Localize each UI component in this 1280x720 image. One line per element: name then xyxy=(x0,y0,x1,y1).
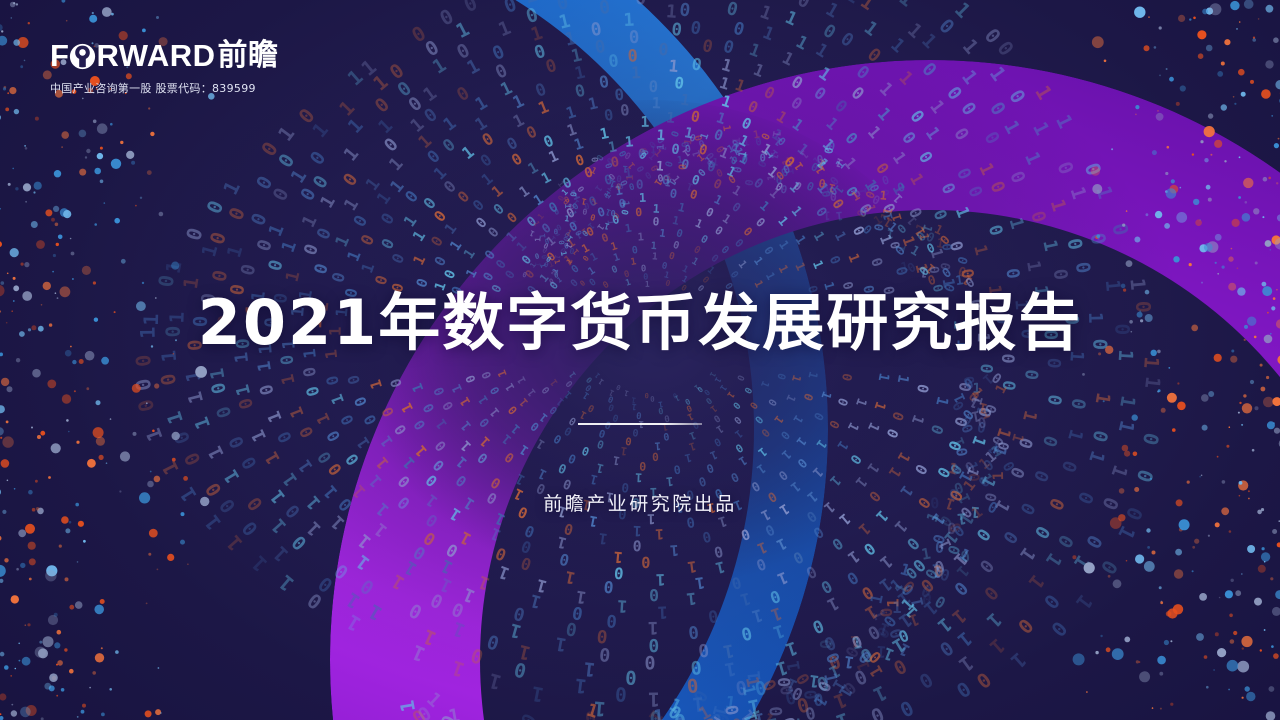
svg-text:1: 1 xyxy=(261,448,285,468)
svg-text:1: 1 xyxy=(651,94,661,112)
svg-text:1: 1 xyxy=(486,668,504,694)
svg-text:1: 1 xyxy=(1022,259,1045,273)
svg-text:1: 1 xyxy=(685,588,697,608)
svg-text:1: 1 xyxy=(953,627,976,651)
svg-text:1: 1 xyxy=(535,97,551,118)
svg-text:1: 1 xyxy=(573,674,587,698)
svg-text:0: 0 xyxy=(1053,531,1078,552)
svg-text:1: 1 xyxy=(191,414,216,432)
svg-text:0: 0 xyxy=(1020,368,1041,381)
svg-text:0: 0 xyxy=(707,606,720,627)
svg-text:1: 1 xyxy=(843,652,856,672)
svg-text:1: 1 xyxy=(472,93,491,116)
svg-text:1: 1 xyxy=(824,593,842,615)
svg-text:0: 0 xyxy=(1088,428,1112,445)
svg-text:1: 1 xyxy=(274,570,299,596)
svg-text:1: 1 xyxy=(894,67,917,89)
svg-text:1: 1 xyxy=(723,657,737,680)
wordmark-chinese: 前瞻 xyxy=(217,41,278,71)
svg-text:0: 0 xyxy=(701,0,715,1)
svg-text:0: 0 xyxy=(208,380,231,396)
svg-text:0: 0 xyxy=(501,0,520,18)
svg-text:0: 0 xyxy=(635,0,647,9)
svg-text:1: 1 xyxy=(529,681,545,707)
svg-text:0: 0 xyxy=(648,77,658,96)
svg-text:1: 1 xyxy=(757,2,774,25)
svg-text:1: 1 xyxy=(448,656,467,683)
svg-text:0: 0 xyxy=(930,207,951,223)
svg-text:1: 1 xyxy=(717,73,732,94)
svg-text:0: 0 xyxy=(896,695,918,720)
svg-text:0: 0 xyxy=(512,657,529,682)
svg-text:0: 0 xyxy=(357,231,378,248)
svg-text:0: 0 xyxy=(484,630,502,654)
svg-text:1: 1 xyxy=(1041,549,1066,571)
svg-text:0: 0 xyxy=(300,365,321,378)
svg-text:0: 0 xyxy=(310,261,332,276)
svg-text:1: 1 xyxy=(732,75,747,96)
svg-text:0: 0 xyxy=(253,237,276,254)
svg-text:1: 1 xyxy=(341,195,364,214)
svg-text:0: 0 xyxy=(274,427,297,445)
svg-text:0: 0 xyxy=(1107,221,1133,238)
brand-wordmark: F RWARD 前瞻 xyxy=(50,40,350,71)
svg-text:0: 0 xyxy=(788,93,806,114)
svg-text:1: 1 xyxy=(669,541,679,559)
svg-text:1: 1 xyxy=(985,62,1011,85)
svg-text:1: 1 xyxy=(1063,427,1086,443)
svg-text:0: 0 xyxy=(979,128,1003,148)
svg-text:0: 0 xyxy=(1013,614,1038,638)
svg-text:1: 1 xyxy=(782,7,801,31)
svg-text:0: 0 xyxy=(689,18,702,39)
wordmark-letter-f: F xyxy=(50,40,69,71)
svg-text:1: 1 xyxy=(255,359,276,372)
svg-text:1: 1 xyxy=(1020,149,1045,168)
svg-text:0: 0 xyxy=(156,372,181,388)
svg-text:1: 1 xyxy=(639,191,647,205)
svg-text:1: 1 xyxy=(958,35,983,59)
svg-text:0: 0 xyxy=(247,210,272,229)
svg-text:0: 0 xyxy=(767,586,783,607)
report-cover-slide: 1000110101110011101001000100110110011100… xyxy=(0,0,1280,720)
svg-text:1: 1 xyxy=(886,34,908,57)
svg-text:1: 1 xyxy=(760,23,777,45)
svg-text:1: 1 xyxy=(623,10,635,32)
svg-text:0: 0 xyxy=(817,639,836,649)
svg-text:0: 0 xyxy=(202,197,229,217)
svg-text:0: 0 xyxy=(985,98,1010,119)
svg-text:1: 1 xyxy=(876,551,896,572)
svg-text:1: 1 xyxy=(823,209,830,223)
svg-text:1: 1 xyxy=(637,231,644,243)
svg-text:0: 0 xyxy=(632,536,642,553)
svg-text:1: 1 xyxy=(815,63,835,85)
svg-text:0: 0 xyxy=(841,128,861,148)
svg-text:0: 0 xyxy=(573,81,587,102)
svg-text:1: 1 xyxy=(625,174,636,180)
svg-text:1: 1 xyxy=(731,137,743,143)
svg-text:0: 0 xyxy=(180,448,206,469)
svg-text:1: 1 xyxy=(340,143,363,165)
svg-text:1: 1 xyxy=(665,474,674,489)
svg-text:1: 1 xyxy=(285,404,307,421)
svg-text:0: 0 xyxy=(1043,393,1066,407)
svg-text:1: 1 xyxy=(335,96,360,120)
svg-text:0: 0 xyxy=(1071,261,1094,275)
svg-text:1: 1 xyxy=(495,17,514,42)
svg-text:0: 0 xyxy=(1026,209,1049,225)
svg-text:1: 1 xyxy=(665,109,676,127)
svg-text:0: 0 xyxy=(952,676,975,703)
svg-text:1: 1 xyxy=(985,634,1009,659)
svg-text:0: 0 xyxy=(998,527,1021,548)
svg-text:0: 0 xyxy=(935,636,957,661)
svg-text:1: 1 xyxy=(1084,448,1108,466)
svg-text:1: 1 xyxy=(856,0,878,15)
svg-text:0: 0 xyxy=(1001,267,1022,281)
svg-text:0: 0 xyxy=(615,682,628,706)
svg-text:0: 0 xyxy=(598,0,612,19)
svg-text:1: 1 xyxy=(420,83,441,107)
svg-text:0: 0 xyxy=(837,28,858,51)
svg-text:1: 1 xyxy=(386,154,408,175)
svg-text:1: 1 xyxy=(141,425,168,445)
title-divider xyxy=(578,423,702,425)
svg-text:1: 1 xyxy=(278,238,301,255)
svg-text:0: 0 xyxy=(257,382,279,397)
svg-text:0: 0 xyxy=(1046,616,1072,641)
svg-text:0: 0 xyxy=(721,36,736,58)
svg-text:0: 0 xyxy=(963,183,986,200)
svg-text:1: 1 xyxy=(1115,394,1140,409)
svg-text:0: 0 xyxy=(701,35,715,57)
svg-text:0: 0 xyxy=(745,97,761,117)
svg-text:0: 0 xyxy=(406,598,426,623)
svg-text:1: 1 xyxy=(875,79,897,101)
svg-text:1: 1 xyxy=(783,637,800,660)
svg-text:0: 0 xyxy=(641,553,650,571)
svg-text:1: 1 xyxy=(508,619,524,642)
svg-text:0: 0 xyxy=(952,165,975,183)
svg-text:0: 0 xyxy=(302,384,323,399)
svg-text:1: 1 xyxy=(1051,111,1078,132)
svg-text:0: 0 xyxy=(1052,158,1078,177)
svg-text:1: 1 xyxy=(835,209,844,224)
svg-text:0: 0 xyxy=(739,622,754,644)
svg-text:1: 1 xyxy=(879,188,887,203)
svg-text:0: 0 xyxy=(532,79,549,101)
svg-text:0: 0 xyxy=(607,50,619,71)
svg-text:0: 0 xyxy=(225,432,249,451)
svg-text:0: 0 xyxy=(518,711,542,720)
svg-text:0: 0 xyxy=(238,453,262,473)
svg-text:1: 1 xyxy=(891,517,911,537)
svg-text:0: 0 xyxy=(986,178,1010,196)
svg-text:0: 0 xyxy=(671,20,683,41)
svg-text:0: 0 xyxy=(652,450,660,463)
svg-text:0: 0 xyxy=(629,28,640,48)
svg-text:1: 1 xyxy=(651,251,658,262)
svg-text:1: 1 xyxy=(631,63,642,82)
svg-text:0: 0 xyxy=(1030,522,1054,542)
svg-text:1: 1 xyxy=(162,408,187,426)
svg-text:0: 0 xyxy=(342,450,363,469)
svg-text:0: 0 xyxy=(1029,467,1053,485)
svg-text:1: 1 xyxy=(968,433,989,449)
svg-text:0: 0 xyxy=(371,93,394,117)
svg-text:1: 1 xyxy=(640,114,649,131)
svg-text:0: 0 xyxy=(635,177,643,192)
svg-text:0: 0 xyxy=(323,427,344,445)
svg-text:1: 1 xyxy=(440,113,460,135)
svg-text:1: 1 xyxy=(247,551,272,577)
svg-text:0: 0 xyxy=(1038,433,1061,449)
wordmark-letters-rward: RWARD xyxy=(96,40,215,71)
brand-tagline: 中国产业咨询第一股 股票代码：839599 xyxy=(50,80,350,96)
svg-text:0: 0 xyxy=(952,446,970,458)
svg-text:0: 0 xyxy=(675,164,686,171)
svg-text:0: 0 xyxy=(652,215,660,228)
svg-text:0: 0 xyxy=(984,223,1006,239)
svg-text:0: 0 xyxy=(644,391,648,399)
svg-text:0: 0 xyxy=(322,374,343,388)
svg-text:1: 1 xyxy=(364,599,386,625)
svg-text:0: 0 xyxy=(979,581,1002,603)
svg-text:0: 0 xyxy=(830,190,837,204)
svg-text:0: 0 xyxy=(1049,268,1071,282)
svg-text:1: 1 xyxy=(895,0,919,11)
svg-text:0: 0 xyxy=(961,374,978,385)
svg-text:0: 0 xyxy=(385,59,408,84)
svg-text:0: 0 xyxy=(492,60,511,84)
svg-text:0: 0 xyxy=(237,262,260,278)
forward-o-monogram-icon xyxy=(69,41,96,71)
svg-text:0: 0 xyxy=(975,555,998,577)
svg-text:0: 0 xyxy=(453,83,473,107)
svg-text:0: 0 xyxy=(947,519,957,537)
cover-byline: 前瞻产业研究院出品 xyxy=(0,489,1280,516)
svg-text:1: 1 xyxy=(248,426,272,445)
svg-text:0: 0 xyxy=(949,577,971,600)
svg-text:0: 0 xyxy=(949,124,973,144)
svg-text:0: 0 xyxy=(265,258,288,274)
svg-text:1: 1 xyxy=(313,410,334,427)
svg-text:0: 0 xyxy=(803,562,820,583)
svg-text:0: 0 xyxy=(810,83,829,104)
svg-text:0: 0 xyxy=(460,0,481,17)
svg-text:0: 0 xyxy=(1132,466,1159,485)
svg-text:0: 0 xyxy=(687,621,700,642)
svg-text:0: 0 xyxy=(349,212,371,231)
svg-text:0: 0 xyxy=(724,0,740,21)
svg-text:1: 1 xyxy=(925,96,948,117)
svg-text:0: 0 xyxy=(301,242,323,259)
svg-text:0: 0 xyxy=(614,85,626,105)
svg-text:0: 0 xyxy=(1066,396,1089,411)
svg-text:1: 1 xyxy=(864,122,885,142)
svg-text:0: 0 xyxy=(181,225,208,244)
svg-text:1: 1 xyxy=(747,39,764,61)
svg-text:0: 0 xyxy=(898,128,920,148)
svg-text:1: 1 xyxy=(408,640,429,667)
svg-text:1: 1 xyxy=(952,204,974,221)
svg-text:1: 1 xyxy=(668,56,680,76)
svg-text:0: 0 xyxy=(1138,430,1164,447)
svg-text:0: 0 xyxy=(436,4,458,31)
svg-text:1: 1 xyxy=(1005,215,1028,231)
svg-text:0: 0 xyxy=(603,577,615,597)
svg-text:1: 1 xyxy=(218,177,245,198)
cover-title: 2021年数字货币发展研究报告 xyxy=(0,287,1280,358)
svg-text:1: 1 xyxy=(450,617,469,642)
svg-text:0: 0 xyxy=(295,423,317,441)
svg-text:0: 0 xyxy=(208,268,232,283)
svg-text:1: 1 xyxy=(951,391,969,405)
svg-text:1: 1 xyxy=(1065,184,1090,202)
svg-text:1: 1 xyxy=(327,392,348,407)
svg-text:1: 1 xyxy=(273,122,299,146)
svg-text:1: 1 xyxy=(528,589,543,611)
svg-text:1: 1 xyxy=(750,605,765,627)
svg-text:1: 1 xyxy=(298,212,322,231)
svg-text:0: 0 xyxy=(731,19,747,41)
svg-text:0: 0 xyxy=(761,82,778,103)
svg-text:0: 0 xyxy=(589,19,603,41)
svg-text:1: 1 xyxy=(232,382,255,398)
svg-text:0: 0 xyxy=(598,643,611,665)
svg-text:0: 0 xyxy=(788,72,806,93)
svg-text:0: 0 xyxy=(649,585,659,604)
svg-text:1: 1 xyxy=(860,17,881,40)
svg-text:0: 0 xyxy=(860,539,879,560)
svg-text:1: 1 xyxy=(157,457,184,479)
svg-text:1: 1 xyxy=(633,522,642,538)
svg-text:1: 1 xyxy=(1008,431,1026,443)
svg-text:0: 0 xyxy=(915,667,937,693)
svg-text:1: 1 xyxy=(343,248,364,264)
svg-text:1: 1 xyxy=(920,545,932,564)
svg-text:1: 1 xyxy=(353,550,374,573)
svg-text:1: 1 xyxy=(207,366,230,380)
svg-text:0: 0 xyxy=(438,134,459,156)
svg-text:0: 0 xyxy=(1005,168,1029,186)
brand-logo-block: F RWARD 前瞻 中国产业咨询第一股 股票代码：839599 xyxy=(50,40,350,96)
svg-text:1: 1 xyxy=(738,589,752,610)
svg-text:0: 0 xyxy=(922,0,947,3)
svg-text:0: 0 xyxy=(843,567,862,588)
svg-text:1: 1 xyxy=(1018,408,1040,423)
svg-text:0: 0 xyxy=(339,169,362,190)
svg-text:0: 0 xyxy=(1039,590,1064,614)
svg-text:1: 1 xyxy=(648,617,659,637)
svg-text:1: 1 xyxy=(822,113,842,134)
svg-text:1: 1 xyxy=(1071,590,1097,614)
svg-text:1: 1 xyxy=(844,547,863,568)
svg-text:0: 0 xyxy=(1085,231,1110,247)
svg-text:0: 0 xyxy=(956,99,980,120)
svg-text:0: 0 xyxy=(905,107,927,128)
svg-text:1: 1 xyxy=(751,60,768,81)
svg-text:0: 0 xyxy=(380,134,403,156)
svg-text:0: 0 xyxy=(690,54,703,74)
svg-text:0: 0 xyxy=(939,243,954,252)
svg-text:0: 0 xyxy=(641,264,647,274)
svg-text:0: 0 xyxy=(468,643,486,669)
svg-text:0: 0 xyxy=(306,147,331,169)
svg-text:1: 1 xyxy=(204,442,229,462)
svg-text:1: 1 xyxy=(974,160,998,179)
svg-text:1: 1 xyxy=(396,698,420,713)
svg-text:1: 1 xyxy=(1030,81,1057,104)
svg-text:1: 1 xyxy=(743,136,751,149)
svg-text:1: 1 xyxy=(1107,462,1133,481)
svg-text:1: 1 xyxy=(622,163,629,174)
svg-text:1: 1 xyxy=(1091,391,1115,406)
svg-text:1: 1 xyxy=(719,92,733,112)
svg-text:1: 1 xyxy=(719,55,734,76)
svg-text:1: 1 xyxy=(264,408,286,425)
svg-text:1: 1 xyxy=(283,269,305,284)
svg-text:1: 1 xyxy=(665,1,677,23)
svg-text:0: 0 xyxy=(489,41,508,65)
svg-text:1: 1 xyxy=(874,103,896,124)
svg-text:0: 0 xyxy=(917,59,940,81)
svg-text:1: 1 xyxy=(624,134,634,151)
svg-text:1: 1 xyxy=(184,389,208,406)
svg-text:0: 0 xyxy=(1062,236,1086,252)
svg-text:0: 0 xyxy=(523,4,541,28)
svg-text:1: 1 xyxy=(982,608,1005,632)
svg-text:1: 1 xyxy=(342,610,365,637)
svg-text:0: 0 xyxy=(635,205,643,219)
svg-text:0: 0 xyxy=(658,39,669,60)
svg-text:1: 1 xyxy=(1028,118,1054,139)
svg-text:0: 0 xyxy=(428,588,447,612)
svg-text:1: 1 xyxy=(1038,238,1061,253)
svg-text:1: 1 xyxy=(1046,197,1070,214)
svg-text:0: 0 xyxy=(678,0,691,22)
svg-text:0: 0 xyxy=(1057,457,1081,475)
svg-text:1: 1 xyxy=(554,632,569,655)
svg-text:0: 0 xyxy=(133,397,159,415)
svg-text:1: 1 xyxy=(652,202,660,216)
svg-text:0: 0 xyxy=(915,147,937,166)
svg-text:1: 1 xyxy=(822,0,842,23)
svg-text:1: 1 xyxy=(1024,570,1048,593)
svg-text:0: 0 xyxy=(328,270,349,285)
svg-text:1: 1 xyxy=(921,124,943,144)
svg-text:1: 1 xyxy=(655,525,664,541)
svg-text:0: 0 xyxy=(337,411,358,428)
svg-text:0: 0 xyxy=(809,614,826,637)
svg-text:0: 0 xyxy=(213,403,236,420)
svg-text:0: 0 xyxy=(309,172,333,193)
svg-text:0: 0 xyxy=(1081,531,1107,552)
svg-text:1: 1 xyxy=(1140,375,1165,390)
svg-text:0: 0 xyxy=(598,72,611,92)
svg-text:0: 0 xyxy=(627,45,638,65)
svg-text:1: 1 xyxy=(870,681,890,707)
svg-text:1: 1 xyxy=(635,470,643,484)
svg-text:1: 1 xyxy=(650,241,657,252)
binary-vortex-and-particles-decoration: 1000110101110011101001000100110110011100… xyxy=(0,0,1280,720)
svg-text:1: 1 xyxy=(999,117,1024,138)
svg-text:1: 1 xyxy=(374,115,397,138)
svg-text:1: 1 xyxy=(1015,543,1039,564)
svg-text:1: 1 xyxy=(277,372,299,386)
svg-text:0: 0 xyxy=(644,651,655,672)
